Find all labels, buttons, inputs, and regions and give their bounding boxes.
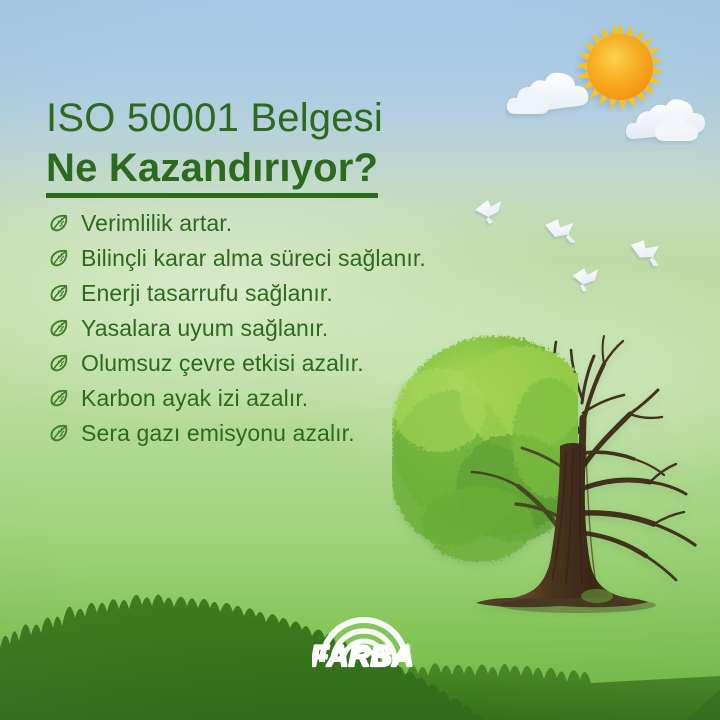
benefit-text: Sera gazı emisyonu azalır.: [81, 420, 355, 446]
benefit-text: Bilinçli karar alma süreci sağlanır.: [81, 245, 426, 271]
headline-line-1: ISO 50001 Belgesi: [46, 96, 516, 140]
benefit-text: Verimlilik artar.: [81, 210, 232, 236]
list-item: Olumsuz çevre etkisi azalır.: [48, 345, 548, 380]
logo-wordmark: FARBA ®: [312, 636, 416, 676]
svg-text:®: ®: [405, 642, 412, 652]
leaf-icon: [48, 317, 70, 339]
headline-block: ISO 50001 Belgesi Ne Kazandırıyor?: [46, 96, 516, 198]
list-item: Yasalara uyum sağlanır.: [48, 310, 548, 345]
list-item: Sera gazı emisyonu azalır.: [48, 415, 548, 450]
leaf-icon: [48, 422, 70, 444]
list-item: Bilinçli karar alma süreci sağlanır.: [48, 240, 548, 275]
leaf-icon: [48, 387, 70, 409]
poster-canvas: ISO 50001 Belgesi Ne Kazandırıyor? Verim…: [0, 0, 720, 720]
cloud-icon: [505, 72, 603, 125]
leaf-icon: [48, 282, 70, 304]
list-item: Verimlilik artar.: [48, 205, 548, 240]
benefit-text: Karbon ayak izi azalır.: [81, 385, 308, 411]
list-item: Karbon ayak izi azalır.: [48, 380, 548, 415]
svg-text:FARBA: FARBA: [312, 640, 414, 673]
benefit-text: Yasalara uyum sağlanır.: [81, 315, 328, 341]
leaf-icon: [48, 212, 70, 234]
benefit-text: Enerji tasarrufu sağlanır.: [81, 280, 333, 306]
leaf-icon: [48, 247, 70, 269]
headline-line-2: Ne Kazandırıyor?: [46, 144, 378, 198]
benefits-list: Verimlilik artar. Bilinçli karar alma sü…: [48, 205, 548, 450]
list-item: Enerji tasarrufu sağlanır.: [48, 275, 548, 310]
farba-logo[interactable]: FARBA ®: [312, 612, 416, 678]
leaf-icon: [48, 352, 70, 374]
cloud-icon: [625, 95, 720, 150]
benefit-text: Olumsuz çevre etkisi azalır.: [81, 350, 364, 376]
